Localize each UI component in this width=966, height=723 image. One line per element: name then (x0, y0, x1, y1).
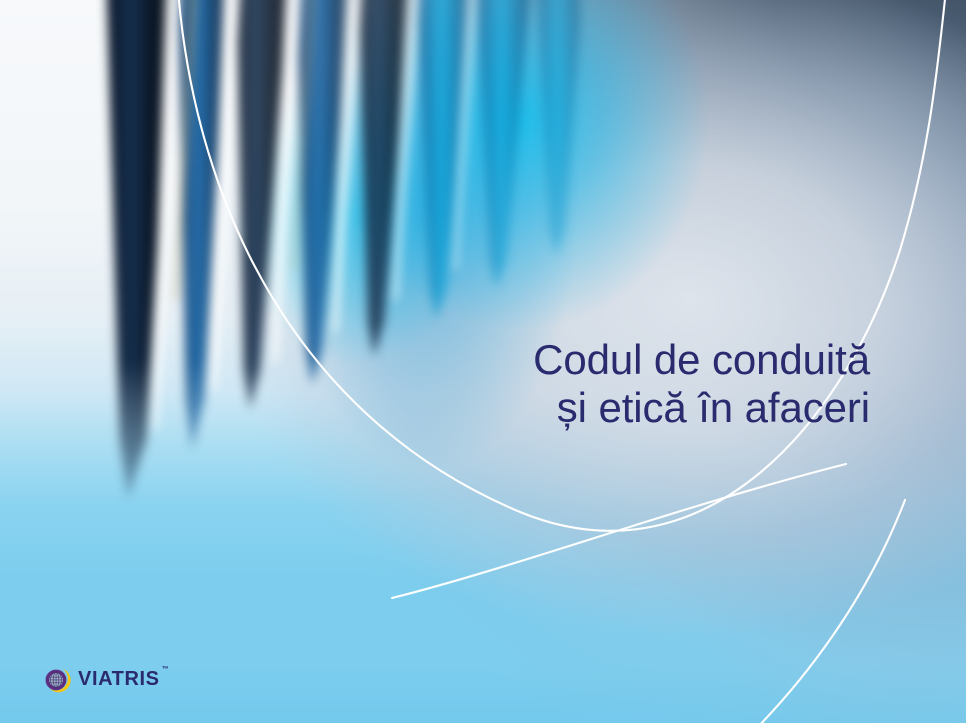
viatris-logo: VIATRIS ™ (42, 664, 160, 694)
viatris-globe-icon (42, 664, 72, 694)
trademark-symbol: ™ (162, 666, 169, 673)
viatris-wordmark-text: VIATRIS (78, 668, 160, 690)
title-line-1: Codul de conduită (533, 336, 870, 384)
corner-white-arc (752, 500, 905, 723)
page-title: Codul de conduită și etică în afaceri (533, 336, 870, 432)
title-line-2: și etică în afaceri (533, 384, 870, 432)
viatris-wordmark: VIATRIS ™ (78, 669, 160, 689)
large-white-arc (178, 0, 946, 531)
inner-white-arc (392, 464, 846, 598)
cover-slide: Codul de conduită și etică în afaceri (0, 0, 966, 723)
